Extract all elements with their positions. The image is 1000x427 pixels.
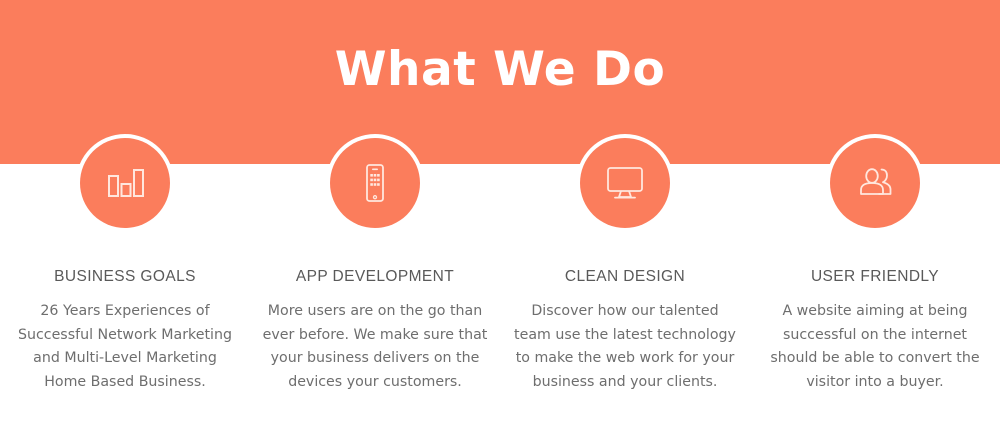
what-we-do-section: What We Do BUSINESS GOALS 26 Years Exper… (0, 0, 1000, 427)
feature-card-app-development[interactable]: APP DEVELOPMENT More users are on the go… (250, 0, 500, 427)
feature-title: USER FRIENDLY (750, 268, 1000, 286)
desktop-monitor-icon (603, 163, 647, 203)
feature-card-business-goals[interactable]: BUSINESS GOALS 26 Years Experiences of S… (0, 0, 250, 427)
feature-card-user-friendly[interactable]: USER FRIENDLY A website aiming at being … (750, 0, 1000, 427)
feature-description: A website aiming at being successful on … (762, 300, 988, 394)
feature-description: 26 Years Experiences of Successful Netwo… (12, 300, 238, 394)
feature-title: APP DEVELOPMENT (250, 268, 500, 286)
feature-columns: BUSINESS GOALS 26 Years Experiences of S… (0, 0, 1000, 427)
feature-description: More users are on the go than ever befor… (262, 300, 488, 394)
bar-chart-icon (103, 163, 147, 203)
icon-badge-app-development[interactable] (330, 138, 420, 228)
mobile-phone-icon (353, 163, 397, 203)
icon-badge-user-friendly[interactable] (830, 138, 920, 228)
icon-badge-business-goals[interactable] (80, 138, 170, 228)
users-group-icon (853, 163, 897, 203)
feature-description: Discover how our talented team use the l… (512, 300, 738, 394)
feature-title: BUSINESS GOALS (0, 268, 250, 286)
feature-card-clean-design[interactable]: CLEAN DESIGN Discover how our talented t… (500, 0, 750, 427)
feature-title: CLEAN DESIGN (500, 268, 750, 286)
icon-badge-clean-design[interactable] (580, 138, 670, 228)
